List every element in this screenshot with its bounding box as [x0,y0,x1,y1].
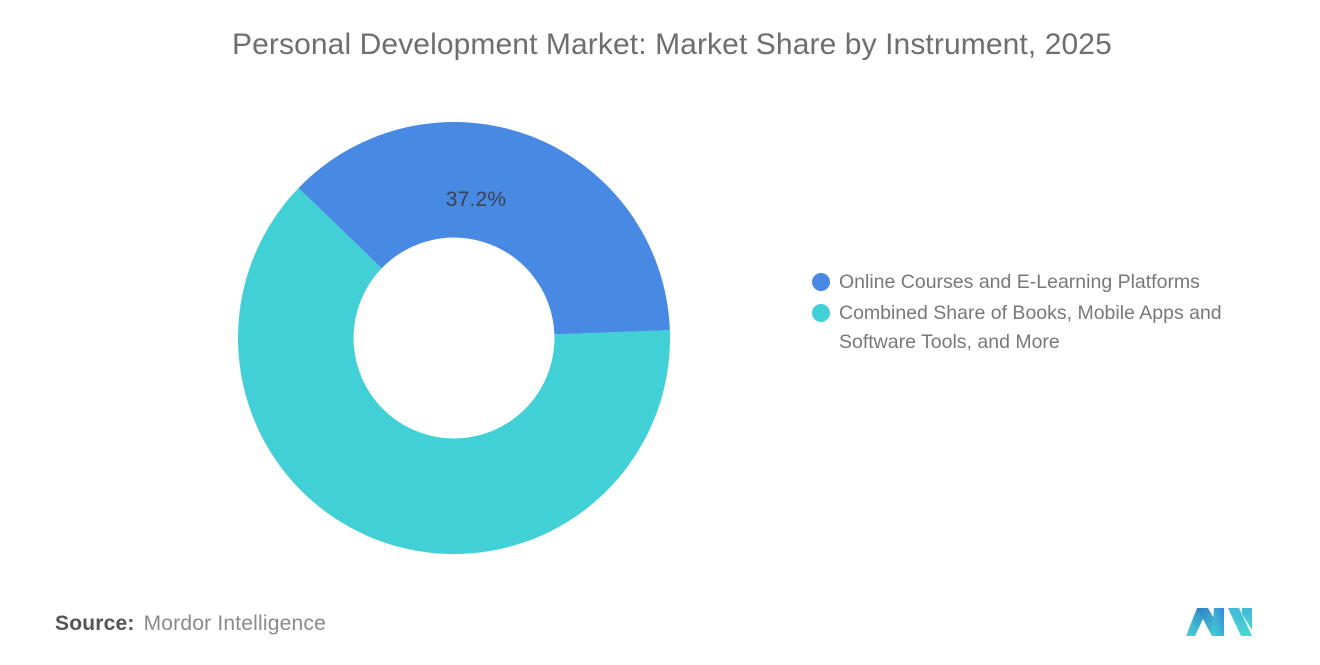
legend-item-combined-share[interactable]: Combined Share of Books, Mobile Apps and… [812,299,1302,357]
source-value: Mordor Intelligence [144,612,326,636]
legend-swatch-circle-icon [812,304,830,322]
chart-legend: Online Courses and E-Learning Platforms … [812,268,1302,359]
page-title: Personal Development Market: Market Shar… [232,28,1232,62]
donut-chart: 37.2% [238,122,670,554]
legend-item-label: Online Courses and E-Learning Platforms [839,268,1200,297]
legend-item-label: Combined Share of Books, Mobile Apps and… [839,299,1289,357]
donut-slice-value-label: 37.2% [416,188,536,212]
mordor-intelligence-logo-icon [1184,600,1254,640]
logo-svg [1184,600,1254,640]
source-label: Source: [55,612,135,636]
donut-chart-svg [238,122,670,554]
legend-item-online-courses[interactable]: Online Courses and E-Learning Platforms [812,268,1302,297]
legend-swatch-circle-icon [812,273,830,291]
donut-slices [238,122,670,554]
chart-page: Personal Development Market: Market Shar… [0,0,1320,665]
source-attribution: Source: Mordor Intelligence [55,612,326,636]
